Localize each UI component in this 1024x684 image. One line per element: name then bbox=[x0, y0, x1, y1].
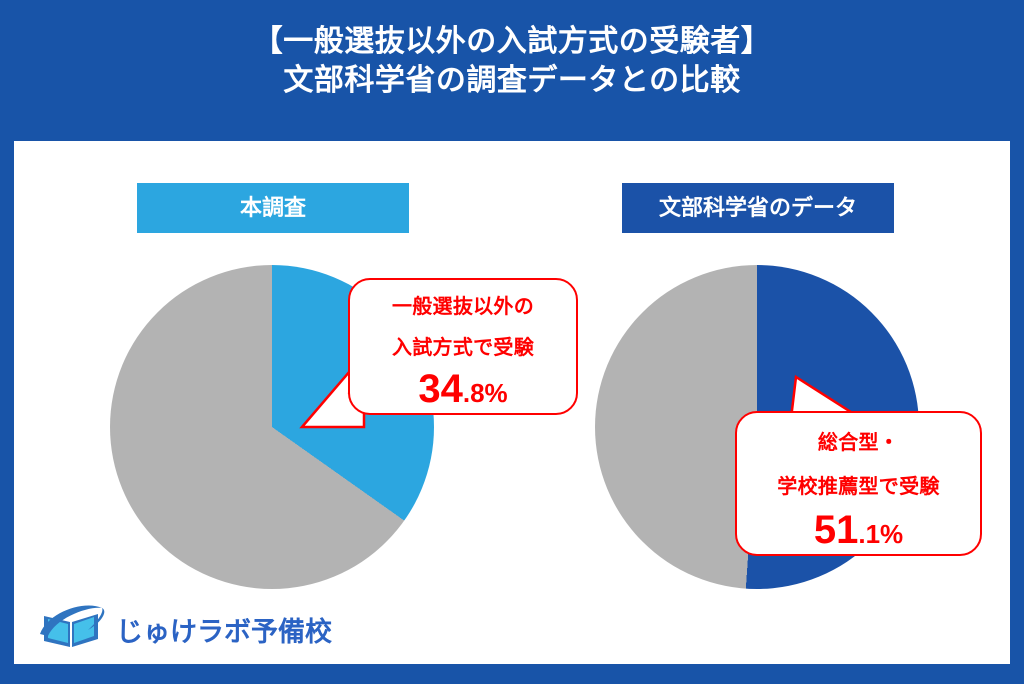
page-title: 【一般選抜以外の入試方式の受験者】 文部科学省の調査データとの比較 bbox=[0, 22, 1024, 100]
right-callout-value-fraction: .1 bbox=[858, 519, 880, 549]
left-callout-value-fraction: .8 bbox=[463, 378, 485, 408]
right-callout-value: 51.1% bbox=[737, 510, 980, 550]
left-callout-line-1: 一般選抜以外の bbox=[350, 294, 576, 321]
page-title-line-2: 文部科学省の調査データとの比較 bbox=[0, 61, 1024, 100]
left-callout-value-main: 34 bbox=[418, 367, 463, 411]
right-callout-line-2: 学校推薦型で受験 bbox=[737, 474, 980, 501]
left-callout-bubble: 一般選抜以外の 入試方式で受験 34.8% bbox=[348, 278, 578, 415]
right-chart-banner: 文部科学省のデータ bbox=[622, 183, 894, 233]
infographic-canvas: 【一般選抜以外の入試方式の受験者】 文部科学省の調査データとの比較 本調査 文部… bbox=[0, 0, 1024, 684]
right-callout-value-unit: % bbox=[880, 519, 903, 549]
right-callout-bubble: 総合型・ 学校推薦型で受験 51.1% bbox=[735, 411, 982, 556]
page-title-line-1: 【一般選抜以外の入試方式の受験者】 bbox=[0, 22, 1024, 61]
left-callout-value: 34.8% bbox=[350, 369, 576, 409]
right-callout-value-main: 51 bbox=[814, 508, 859, 552]
brand-logo-text: じゅけラボ予備校 bbox=[116, 610, 332, 649]
left-callout-line-2: 入試方式で受験 bbox=[350, 335, 576, 362]
left-chart-banner: 本調査 bbox=[137, 183, 409, 233]
left-callout-value-unit: % bbox=[485, 378, 508, 408]
book-swoosh-icon bbox=[38, 600, 110, 652]
right-callout-line-1: 総合型・ bbox=[737, 430, 980, 457]
brand-logo: じゅけラボ予備校 bbox=[38, 600, 278, 652]
